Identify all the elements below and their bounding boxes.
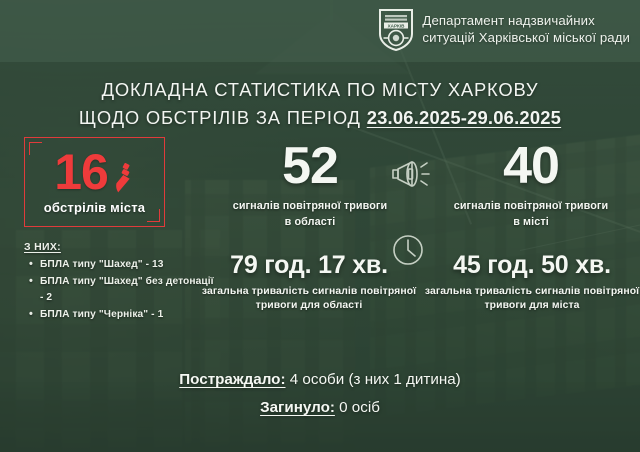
injured-label: Постраждало: bbox=[179, 371, 285, 388]
emblem-text: ХАРКІВ bbox=[388, 23, 406, 28]
reporting-period: 23.06.2025-29.06.2025 bbox=[367, 107, 561, 128]
stat-city-alarms-value: 40 bbox=[428, 140, 634, 192]
list-item: БПЛА типу "Черніка" - 1 bbox=[24, 307, 219, 324]
duration-oblast: 79 год. 17 хв. загальна тривалість сигна… bbox=[200, 252, 418, 314]
stat-oblast-alarms-caption: сигналів повітряної тривоги в області bbox=[207, 199, 413, 230]
killed-line: Загинуло: 0 осіб bbox=[0, 394, 640, 422]
stat-oblast-alarms-value: 52 bbox=[207, 140, 413, 192]
duration-oblast-value: 79 год. 17 хв. bbox=[200, 252, 418, 280]
breakdown-title: З НИХ: bbox=[24, 241, 219, 253]
duration-city-value: 45 год. 50 хв. bbox=[424, 252, 640, 280]
headline-line-2-prefix: ЩОДО ОБСТРІЛІВ ЗА ПЕРІОД bbox=[79, 107, 367, 128]
stat-city-alarms: 40 сигналів повітряної тривоги в місті bbox=[428, 140, 634, 230]
injured-line: Постраждало: 4 особи (з них 1 дитина) bbox=[0, 366, 640, 394]
bomb-icon bbox=[109, 163, 135, 193]
strike-count-label: обстрілів міста bbox=[44, 200, 145, 215]
headline-line-2: ЩОДО ОБСТРІЛІВ ЗА ПЕРІОД 23.06.2025-29.0… bbox=[0, 104, 640, 132]
headline-line-1: ДОКЛАДНА СТАТИСТИКА ПО МІСТУ ХАРКОВУ bbox=[102, 79, 539, 100]
casualties-section: Постраждало: 4 особи (з них 1 дитина) За… bbox=[0, 366, 640, 422]
list-item: БПЛА типу "Шахед" - 13 bbox=[24, 257, 219, 274]
megaphone-icon bbox=[389, 156, 433, 192]
strike-count-value: 16 bbox=[54, 149, 108, 195]
page-title: ДОКЛАДНА СТАТИСТИКА ПО МІСТУ ХАРКОВУ ЩОД… bbox=[0, 76, 640, 131]
infographic-poster: ХАРКІВ Департамент надзвичайних ситуацій… bbox=[0, 0, 640, 452]
duration-city: 45 год. 50 хв. загальна тривалість сигна… bbox=[424, 252, 640, 314]
stat-city-alarms-caption: сигналів повітряної тривоги в місті bbox=[428, 199, 634, 230]
killed-label: Загинуло: bbox=[260, 399, 335, 416]
strike-count-row: 16 bbox=[54, 149, 135, 195]
shield-emblem-icon: ХАРКІВ bbox=[378, 8, 414, 52]
killed-value: 0 осіб bbox=[335, 399, 380, 416]
duration-oblast-caption: загальна тривалість сигналів повітряної … bbox=[200, 285, 418, 315]
strike-count-box: 16 обстрілів міста bbox=[24, 137, 165, 227]
stat-oblast-alarms: 52 сигналів повітряної тривоги в області bbox=[207, 140, 413, 230]
list-item: БПЛА типу "Шахед" без детонації - 2 bbox=[24, 274, 219, 307]
department-title: Департамент надзвичайних ситуацій Харків… bbox=[422, 13, 630, 47]
department-logo-row: ХАРКІВ Департамент надзвичайних ситуацій… bbox=[378, 8, 630, 52]
duration-city-caption: загальна тривалість сигналів повітряної … bbox=[424, 285, 640, 315]
strike-breakdown: З НИХ: БПЛА типу "Шахед" - 13 БПЛА типу … bbox=[24, 241, 219, 323]
breakdown-list: БПЛА типу "Шахед" - 13 БПЛА типу "Шахед"… bbox=[24, 257, 219, 323]
injured-value: 4 особи (з них 1 дитина) bbox=[286, 371, 461, 388]
